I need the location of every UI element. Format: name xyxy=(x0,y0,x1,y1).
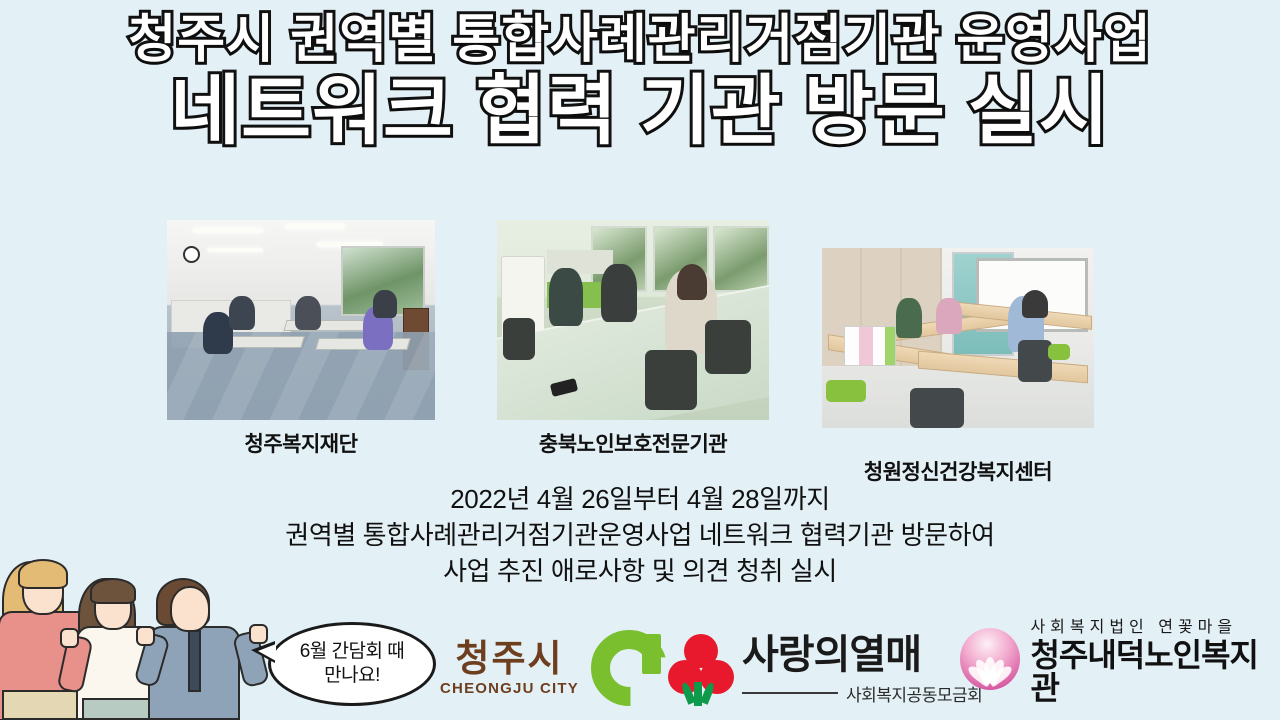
cheongju-city-emblem-icon xyxy=(591,630,667,706)
logo-cheongju-city: 청주시 CHEONGJU CITY xyxy=(440,630,667,706)
divider-rule xyxy=(742,692,838,694)
speech-bubble-line-1: 6월 간담회 때 xyxy=(300,640,405,664)
photo-item-2: 충북노인보호전문기관 xyxy=(497,220,769,420)
title-line-2: 네트워크 협력 기관 방문 실시 xyxy=(0,74,1280,150)
logo-naedeok-senior-center: 사회복지법인 연꽃마을 청주내덕노인복지관 xyxy=(960,613,1280,706)
naedeok-main-label: 청주내덕노인복지관 xyxy=(1030,639,1280,706)
cheongju-city-korean: 청주시 xyxy=(455,640,563,677)
photo-cheongwon-mental-health-center xyxy=(822,248,1094,428)
photo-item-1: 청주복지재단 xyxy=(167,220,435,420)
naedeok-top-label: 사회복지법인 연꽃마을 xyxy=(1030,613,1280,637)
photo-chungbuk-elder-protection-agency xyxy=(497,220,769,420)
fruit-of-love-berry-icon xyxy=(668,634,734,706)
character-man-suit xyxy=(144,572,252,720)
poster-title: 청주시 권역별 통합사례관리거점기관 운영사업 네트워크 협력 기관 방문 실시 xyxy=(0,14,1280,150)
speech-bubble-line-2: 만나요! xyxy=(324,664,380,688)
photo-cheongju-welfare-foundation xyxy=(167,220,435,420)
speech-bubble: 6월 간담회 때 만나요! xyxy=(268,622,436,706)
photo-caption-1: 청주복지재단 xyxy=(167,428,435,458)
photo-caption-2: 충북노인보호전문기관 xyxy=(497,428,769,458)
title-line-1: 청주시 권역별 통합사례관리거점기관 운영사업 xyxy=(0,14,1280,66)
photo-gallery: 청주복지재단 충북노인보호전문기관 xyxy=(0,220,1280,430)
lotus-flower-icon xyxy=(960,628,1020,690)
body-line-1: 2022년 4월 26일부터 4월 28일까지 xyxy=(0,482,1280,518)
cheongju-city-english: CHEONGJU CITY xyxy=(440,680,579,697)
community-chest-korean: 사랑의열매 xyxy=(742,635,982,675)
character-illustration xyxy=(0,535,252,720)
photo-item-3: 청원정신건강복지센터 xyxy=(822,248,1094,428)
logo-community-chest: 사랑의열매 사회복지공동모금회 xyxy=(668,634,982,706)
logo-row: 청주시 CHEONGJU CITY 사랑의열매 사회복지공동모금회 xyxy=(440,618,1280,710)
